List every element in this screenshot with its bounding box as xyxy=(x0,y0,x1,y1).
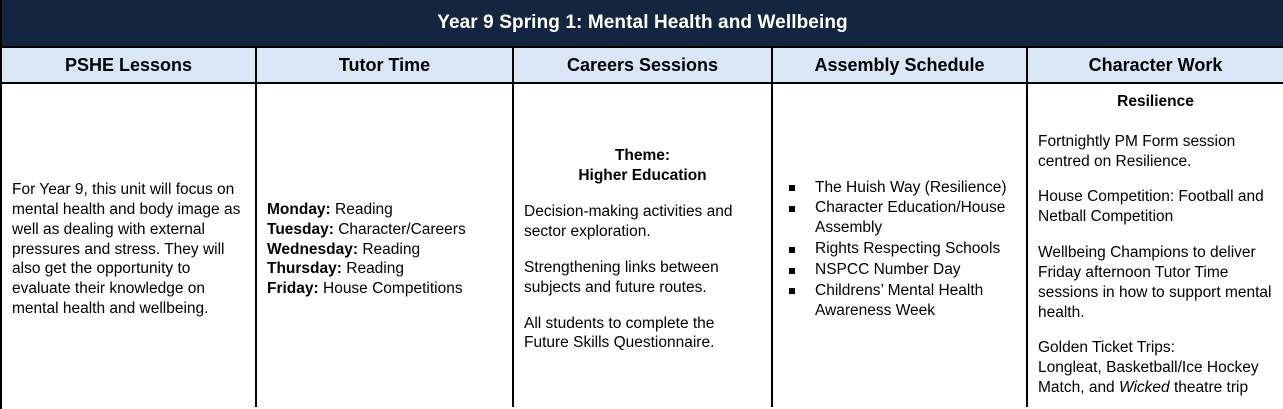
character-paragraph: Wellbeing Champions to deliver Friday af… xyxy=(1038,243,1273,322)
page-title: Year 9 Spring 1: Mental Health and Wellb… xyxy=(2,0,1283,48)
character-heading: Resilience xyxy=(1038,92,1273,112)
pshe-description: For Year 9, this unit will focus on ment… xyxy=(12,180,245,319)
list-item: The Huish Way (Resilience) xyxy=(783,178,1016,198)
cell-assembly-schedule: The Huish Way (Resilience) Character Edu… xyxy=(773,84,1028,407)
golden-ticket-show-title: Wicked xyxy=(1119,379,1170,396)
tutor-time-row: Tuesday: Character/Careers xyxy=(267,220,502,240)
careers-paragraph: Decision-making activities and sector ex… xyxy=(524,202,761,242)
character-paragraph: Fortnightly PM Form session centred on R… xyxy=(1038,132,1273,172)
tutor-day-label: Thursday: xyxy=(267,260,342,277)
assembly-item-label: NSPCC Number Day xyxy=(815,261,961,278)
tutor-time-row: Monday: Reading xyxy=(267,200,502,220)
tutor-day-activity: Reading xyxy=(362,241,420,258)
assembly-item-label: Rights Respecting Schools xyxy=(815,240,1000,257)
column-header-character-work: Character Work xyxy=(1028,48,1283,82)
careers-theme-value: Higher Education xyxy=(524,166,761,186)
list-item: Childrens’ Mental Health Awareness Week xyxy=(783,281,1016,321)
tutor-time-row: Thursday: Reading xyxy=(267,259,502,279)
cell-character-work: Resilience Fortnightly PM Form session c… xyxy=(1028,84,1283,407)
bullet-square-icon xyxy=(789,206,795,212)
table-body-row: For Year 9, this unit will focus on ment… xyxy=(2,84,1283,407)
golden-ticket-suffix: theatre trip xyxy=(1170,379,1248,396)
careers-theme-label: Theme: xyxy=(524,146,761,166)
assembly-item-label: The Huish Way (Resilience) xyxy=(815,179,1007,196)
tutor-day-activity: Character/Careers xyxy=(338,221,466,238)
list-item: Rights Respecting Schools xyxy=(783,239,1016,259)
tutor-time-row: Friday: House Competitions xyxy=(267,279,502,299)
assembly-item-label: Childrens’ Mental Health Awareness Week xyxy=(815,282,983,319)
list-item: NSPCC Number Day xyxy=(783,260,1016,280)
bullet-square-icon xyxy=(789,288,795,294)
character-paragraph: House Competition: Football and Netball … xyxy=(1038,187,1273,227)
column-header-pshe-lessons: PSHE Lessons xyxy=(2,48,257,82)
cell-pshe-lessons: For Year 9, this unit will focus on ment… xyxy=(2,84,257,407)
tutor-day-label: Friday: xyxy=(267,280,319,297)
tutor-day-activity: Reading xyxy=(346,260,404,277)
column-header-assembly-schedule: Assembly Schedule xyxy=(773,48,1028,82)
tutor-time-row: Wednesday: Reading xyxy=(267,240,502,260)
column-header-careers-sessions: Careers Sessions xyxy=(514,48,773,82)
careers-paragraph: Strengthening links between subjects and… xyxy=(524,258,761,298)
assembly-item-label: Character Education/House Assembly xyxy=(815,199,1005,236)
curriculum-overview-table: Year 9 Spring 1: Mental Health and Wellb… xyxy=(0,0,1283,409)
tutor-day-label: Monday: xyxy=(267,201,331,218)
careers-theme-block: Theme: Higher Education xyxy=(524,146,761,186)
list-item: Character Education/House Assembly xyxy=(783,198,1016,238)
column-header-tutor-time: Tutor Time xyxy=(257,48,514,82)
tutor-day-activity: Reading xyxy=(335,201,393,218)
tutor-time-schedule: Monday: Reading Tuesday: Character/Caree… xyxy=(267,200,502,299)
tutor-day-label: Tuesday: xyxy=(267,221,334,238)
bullet-square-icon xyxy=(789,247,795,253)
cell-tutor-time: Monday: Reading Tuesday: Character/Caree… xyxy=(257,84,514,407)
tutor-day-activity: House Competitions xyxy=(323,280,463,297)
tutor-day-label: Wednesday: xyxy=(267,241,358,258)
table-header-row: PSHE Lessons Tutor Time Careers Sessions… xyxy=(2,48,1283,84)
cell-careers-sessions: Theme: Higher Education Decision-making … xyxy=(514,84,773,407)
careers-paragraph: All students to complete the Future Skil… xyxy=(524,314,761,354)
bullet-square-icon xyxy=(789,185,795,191)
golden-ticket-label: Golden Ticket Trips: xyxy=(1038,339,1175,356)
golden-ticket-trips: Golden Ticket Trips:Longleat, Basketball… xyxy=(1038,338,1273,397)
assembly-list: The Huish Way (Resilience) Character Edu… xyxy=(783,178,1016,322)
bullet-square-icon xyxy=(789,268,795,274)
